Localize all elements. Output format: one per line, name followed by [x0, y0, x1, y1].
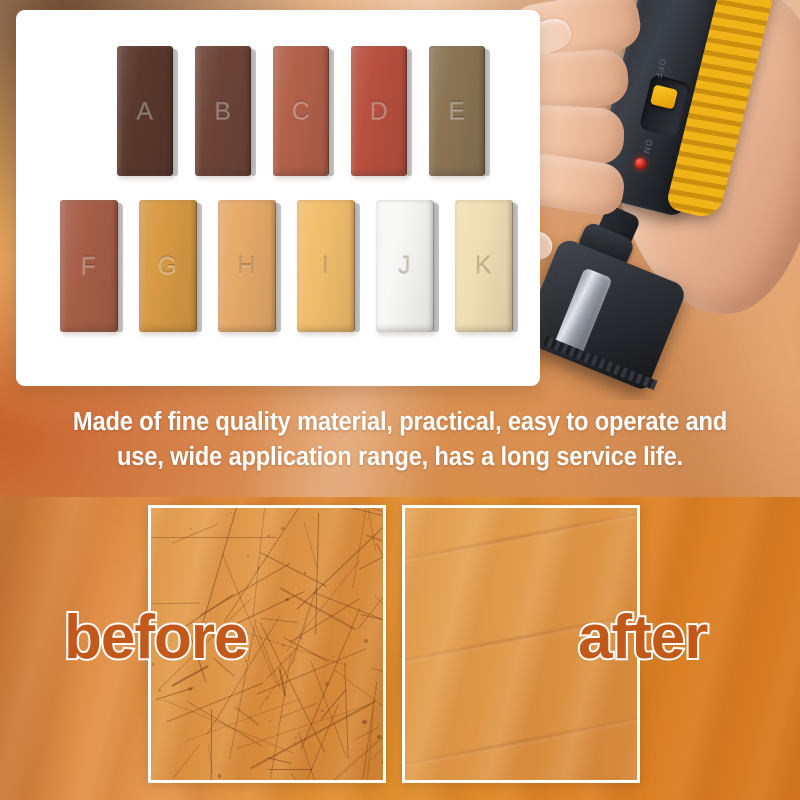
floor-speck [300, 637, 302, 639]
product-banner: OFF ON ABCDE FGHIJK Made of [0, 0, 800, 800]
wax-block-g: G [139, 200, 197, 332]
floor-speck [295, 736, 298, 739]
wax-block-i: I [297, 200, 355, 332]
wax-block-letter: E [448, 97, 465, 126]
floor-speck [382, 670, 383, 671]
wax-block-b: B [195, 46, 251, 176]
wax-row-bottom: FGHIJK [56, 200, 516, 332]
wax-block-letter: C [292, 97, 311, 126]
before-label: before [64, 607, 247, 669]
floor-speck [269, 720, 271, 722]
wax-block-letter: F [81, 252, 97, 281]
power-led-indicator [635, 158, 646, 169]
floor-speck [377, 735, 381, 739]
wax-block-letter: H [237, 252, 256, 281]
wax-block-d: D [351, 46, 407, 176]
wax-block-letter: B [214, 97, 231, 126]
floor-speck [190, 528, 192, 530]
floor-scratch [384, 541, 386, 622]
floor-speck [310, 613, 311, 614]
wax-block-letter: J [398, 252, 411, 281]
floor-speck [321, 710, 324, 713]
floor-speck [267, 535, 269, 537]
after-label: after [578, 607, 707, 669]
wax-block-e: E [429, 46, 485, 176]
wax-block-a: A [117, 46, 173, 176]
floor-speck [267, 697, 269, 699]
before-after-section: before after [0, 497, 800, 800]
tagline-line-2: use, wide application range, has a long … [48, 440, 751, 475]
wax-swatch-card: ABCDE FGHIJK [16, 10, 540, 386]
tagline-line-1: Made of fine quality material, practical… [48, 405, 751, 440]
wax-block-letter: I [322, 252, 329, 281]
floor-speck [382, 761, 385, 764]
floor-speck [285, 598, 288, 601]
wax-block-k: K [455, 200, 513, 332]
scraper-tool-photo: OFF ON [500, 0, 800, 400]
swatch-showcase-section: OFF ON ABCDE FGHIJK Made of [0, 0, 800, 497]
wax-block-f: F [60, 200, 118, 332]
product-tagline: Made of fine quality material, practical… [28, 405, 772, 475]
plank-seam [402, 505, 640, 569]
wax-block-j: J [376, 200, 434, 332]
floor-speck [188, 687, 191, 690]
wax-block-letter: K [475, 252, 492, 281]
wax-block-h: H [218, 200, 276, 332]
floor-speck [247, 555, 249, 557]
floor-speck [362, 720, 366, 724]
floor-speck [218, 774, 221, 777]
wax-block-c: C [273, 46, 329, 176]
wax-block-letter: G [158, 252, 178, 281]
wax-row-top: ABCDE [92, 46, 492, 176]
floor-speck [378, 723, 379, 724]
floor-speck [159, 689, 162, 692]
plank-seam [402, 708, 640, 775]
wax-block-letter: A [136, 97, 153, 126]
floor-scratch [268, 769, 312, 770]
wax-block-letter: D [370, 97, 389, 126]
